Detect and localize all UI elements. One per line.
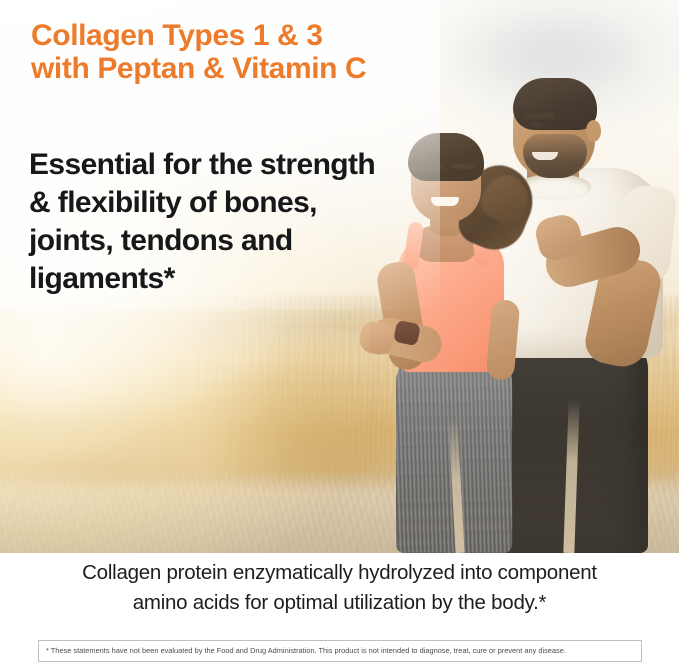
product-infographic: Collagen Types 1 & 3 with Peptan & Vitam… [0, 0, 679, 667]
headline-line-1: Essential for the strength [29, 146, 429, 184]
benefit-headline: Essential for the strength & flexibility… [29, 146, 429, 298]
page-title: Collagen Types 1 & 3 with Peptan & Vitam… [31, 19, 461, 85]
man-eye [530, 122, 543, 128]
headline-line-3: joints, tendons and [29, 222, 429, 260]
caption-line-1: Collagen protein enzymatically hydrolyze… [0, 558, 679, 588]
woman-smile [431, 197, 459, 206]
caption-line-2: amino acids for optimal utilization by t… [0, 588, 679, 618]
brand-title-line-2: with Peptan & Vitamin C [31, 52, 461, 85]
headline-line-2: & flexibility of bones, [29, 184, 429, 222]
man-ear [586, 120, 601, 142]
woman-eye-right [455, 173, 468, 179]
man-smile [532, 152, 558, 160]
supporting-caption: Collagen protein enzymatically hydrolyze… [0, 558, 679, 618]
man-hair [513, 78, 597, 130]
brand-title-line-1: Collagen Types 1 & 3 [31, 19, 461, 52]
woman-eyebrow-right [452, 163, 474, 169]
headline-line-4: ligaments* [29, 260, 429, 298]
fda-disclaimer: * These statements have not been evaluat… [38, 640, 642, 662]
